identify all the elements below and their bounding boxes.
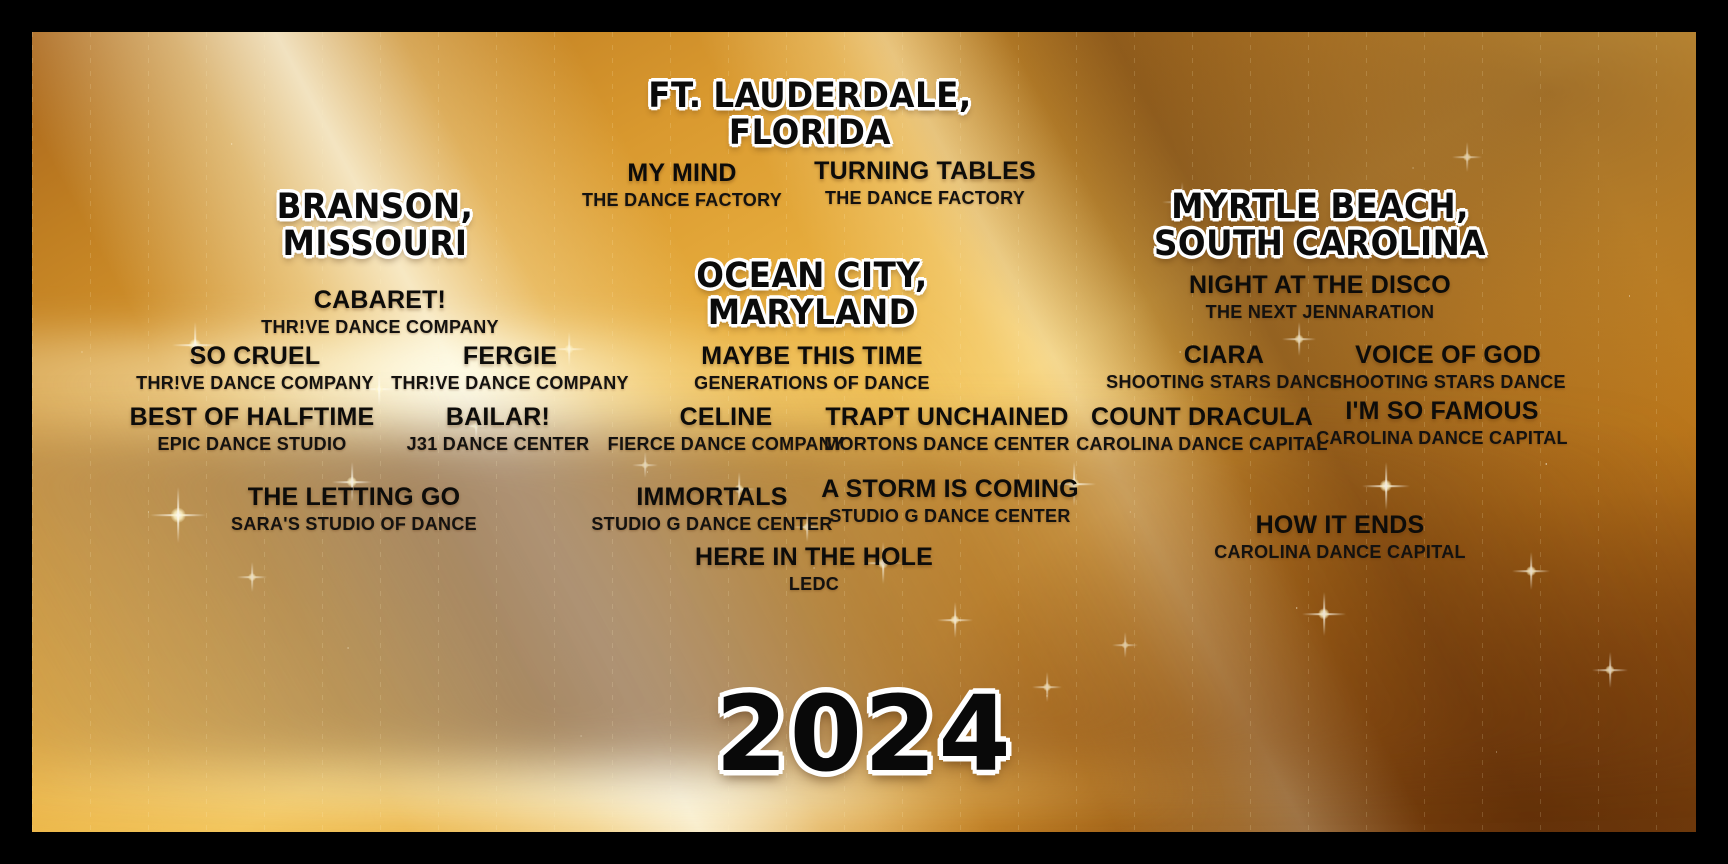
entry-studio: GENERATIONS OF DANCE [642,373,982,395]
gold-background-panel: FT. LAUDERDALE, FLORIDA MY MIND THE DANC… [32,32,1696,832]
entry-studio: SHOOTING STARS DANCE [1278,372,1618,394]
poster-text-layer: FT. LAUDERDALE, FLORIDA MY MIND THE DANC… [32,32,1696,832]
entry-studio: THE DANCE FACTORY [760,188,1090,210]
city-heading-line2: MISSOURI [180,226,571,263]
entry-studio: CAROLINA DANCE CAPITAL [1272,428,1612,450]
entry-title: THE LETTING GO [179,484,529,511]
city-heading-ft-lauderdale: FT. LAUDERDALE, FLORIDA [615,78,1006,153]
entry-studio: CAROLINA DANCE CAPITAL [1170,542,1510,564]
entry-title: HOW IT ENDS [1170,512,1510,539]
city-heading-line1: BRANSON, [180,189,571,226]
city-heading-line1: OCEAN CITY, [617,258,1008,295]
entry-fergie: FERGIE THR!VE DANCE COMPANY [345,343,675,395]
entry-studio: SARA'S STUDIO OF DANCE [179,514,529,536]
entry-title: TURNING TABLES [760,158,1090,185]
entry-maybe-this-time: MAYBE THIS TIME GENERATIONS OF DANCE [642,343,982,395]
city-heading-branson: BRANSON, MISSOURI [180,189,571,264]
city-heading-line1: MYRTLE BEACH, [1106,189,1534,226]
poster-root: FT. LAUDERDALE, FLORIDA MY MIND THE DANC… [0,0,1728,864]
entry-turning-tables: TURNING TABLES THE DANCE FACTORY [760,158,1090,210]
entry-title: HERE IN THE HOLE [644,544,984,571]
entry-studio: LEDC [644,574,984,596]
entry-a-storm-is-coming: A STORM IS COMING STUDIO G DANCE CENTER [780,476,1120,528]
entry-title: VOICE OF GOD [1278,342,1618,369]
entry-title: FERGIE [345,343,675,370]
entry-cabaret: CABARET! THR!VE DANCE COMPANY [200,287,560,339]
city-heading-line2: SOUTH CAROLINA [1106,226,1534,263]
entry-title: NIGHT AT THE DISCO [1150,272,1490,299]
entry-title: I'M SO FAMOUS [1272,398,1612,425]
year-label: 2024 [32,682,1696,786]
entry-here-in-the-hole: HERE IN THE HOLE LEDC [644,544,984,596]
entry-im-so-famous: I'M SO FAMOUS CAROLINA DANCE CAPITAL [1272,398,1612,450]
city-heading-line2: FLORIDA [615,115,1006,152]
entry-studio: THR!VE DANCE COMPANY [200,317,560,339]
entry-night-at-the-disco: NIGHT AT THE DISCO THE NEXT JENNARATION [1150,272,1490,324]
city-heading-line1: FT. LAUDERDALE, [615,78,1006,115]
entry-studio: STUDIO G DANCE CENTER [780,506,1120,528]
entry-how-it-ends: HOW IT ENDS CAROLINA DANCE CAPITAL [1170,512,1510,564]
city-heading-myrtle-beach: MYRTLE BEACH, SOUTH CAROLINA [1106,189,1534,264]
entry-studio: THE NEXT JENNARATION [1150,302,1490,324]
entry-the-letting-go: THE LETTING GO SARA'S STUDIO OF DANCE [179,484,529,536]
entry-studio: THR!VE DANCE COMPANY [345,373,675,395]
entry-voice-of-god: VOICE OF GOD SHOOTING STARS DANCE [1278,342,1618,394]
city-heading-line2: MARYLAND [617,295,1008,332]
entry-title: MAYBE THIS TIME [642,343,982,370]
city-heading-ocean-city: OCEAN CITY, MARYLAND [617,258,1008,333]
entry-title: CABARET! [200,287,560,314]
entry-title: A STORM IS COMING [780,476,1120,503]
